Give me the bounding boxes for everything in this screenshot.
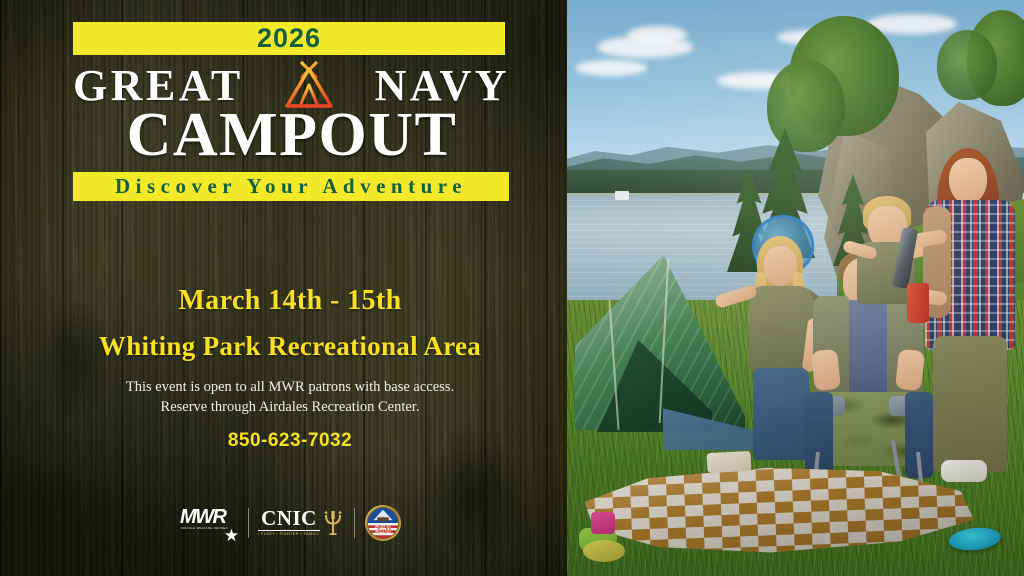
mother-pants (933, 336, 1007, 472)
mother-shoe (941, 460, 987, 482)
girl-jeans (753, 368, 809, 460)
event-note-line-1: This event is open to all MWR patrons wi… (40, 377, 540, 397)
toy-pink (591, 512, 615, 534)
event-note-line-2: Reserve through Airdales Recreation Cent… (40, 397, 540, 417)
logo-divider (248, 508, 249, 538)
mwr-logo-wordmark: MWR (180, 507, 232, 527)
cnic-logo: CNIC • FLEET • FIGHTER • FAMILY • (258, 506, 344, 540)
campout-poster: 2026 GREAT NAVY CAMPOUT Discover Your Ad… (0, 0, 1024, 576)
event-note: This event is open to all MWR patrons wi… (40, 377, 540, 417)
tree-canopy (937, 30, 997, 100)
mwr-logo-subtext: MORALE WELFARE RECREATION (181, 526, 228, 530)
lakeside-building (615, 191, 629, 200)
star-icon: ★ (223, 527, 240, 544)
tree-canopy (767, 60, 845, 152)
cnic-logo-subtext: • FLEET • FIGHTER • FAMILY • (258, 531, 320, 537)
trident-icon (322, 510, 344, 536)
campout-photo (567, 0, 1024, 576)
year-banner-label: 2026 (73, 22, 505, 55)
event-location: Whiting Park Recreational Area (40, 331, 540, 361)
navy-250-seal-icon: 250 (364, 504, 402, 542)
cloud (627, 26, 687, 44)
camp-chair-armrest-left (805, 392, 833, 478)
travel-mug (907, 283, 929, 323)
event-phone-number[interactable]: 850-623-7032 (40, 430, 540, 452)
tagline-banner-label: Discover Your Adventure (73, 172, 509, 201)
cnic-logo-wordmark: CNIC (258, 508, 320, 531)
seal-number: 250 (375, 523, 392, 535)
logo-divider (354, 508, 355, 538)
cloud (575, 60, 647, 76)
lake-reflections (567, 200, 867, 310)
father-arm-left (811, 349, 841, 391)
blanket-cushion (707, 451, 752, 473)
father-arm-right (895, 349, 925, 391)
logo-bar: MWR MORALE WELFARE RECREATION ★ CNIC • F… (180, 500, 402, 545)
event-date: March 14th - 15th (40, 286, 540, 316)
cnic-logo-stack: CNIC • FLEET • FIGHTER • FAMILY • (258, 508, 320, 537)
title-line-2: CAMPOUT (71, 104, 513, 166)
toy-yellow (583, 540, 625, 562)
mwr-logo: MWR MORALE WELFARE RECREATION ★ (180, 505, 238, 541)
mother-face (949, 158, 987, 204)
